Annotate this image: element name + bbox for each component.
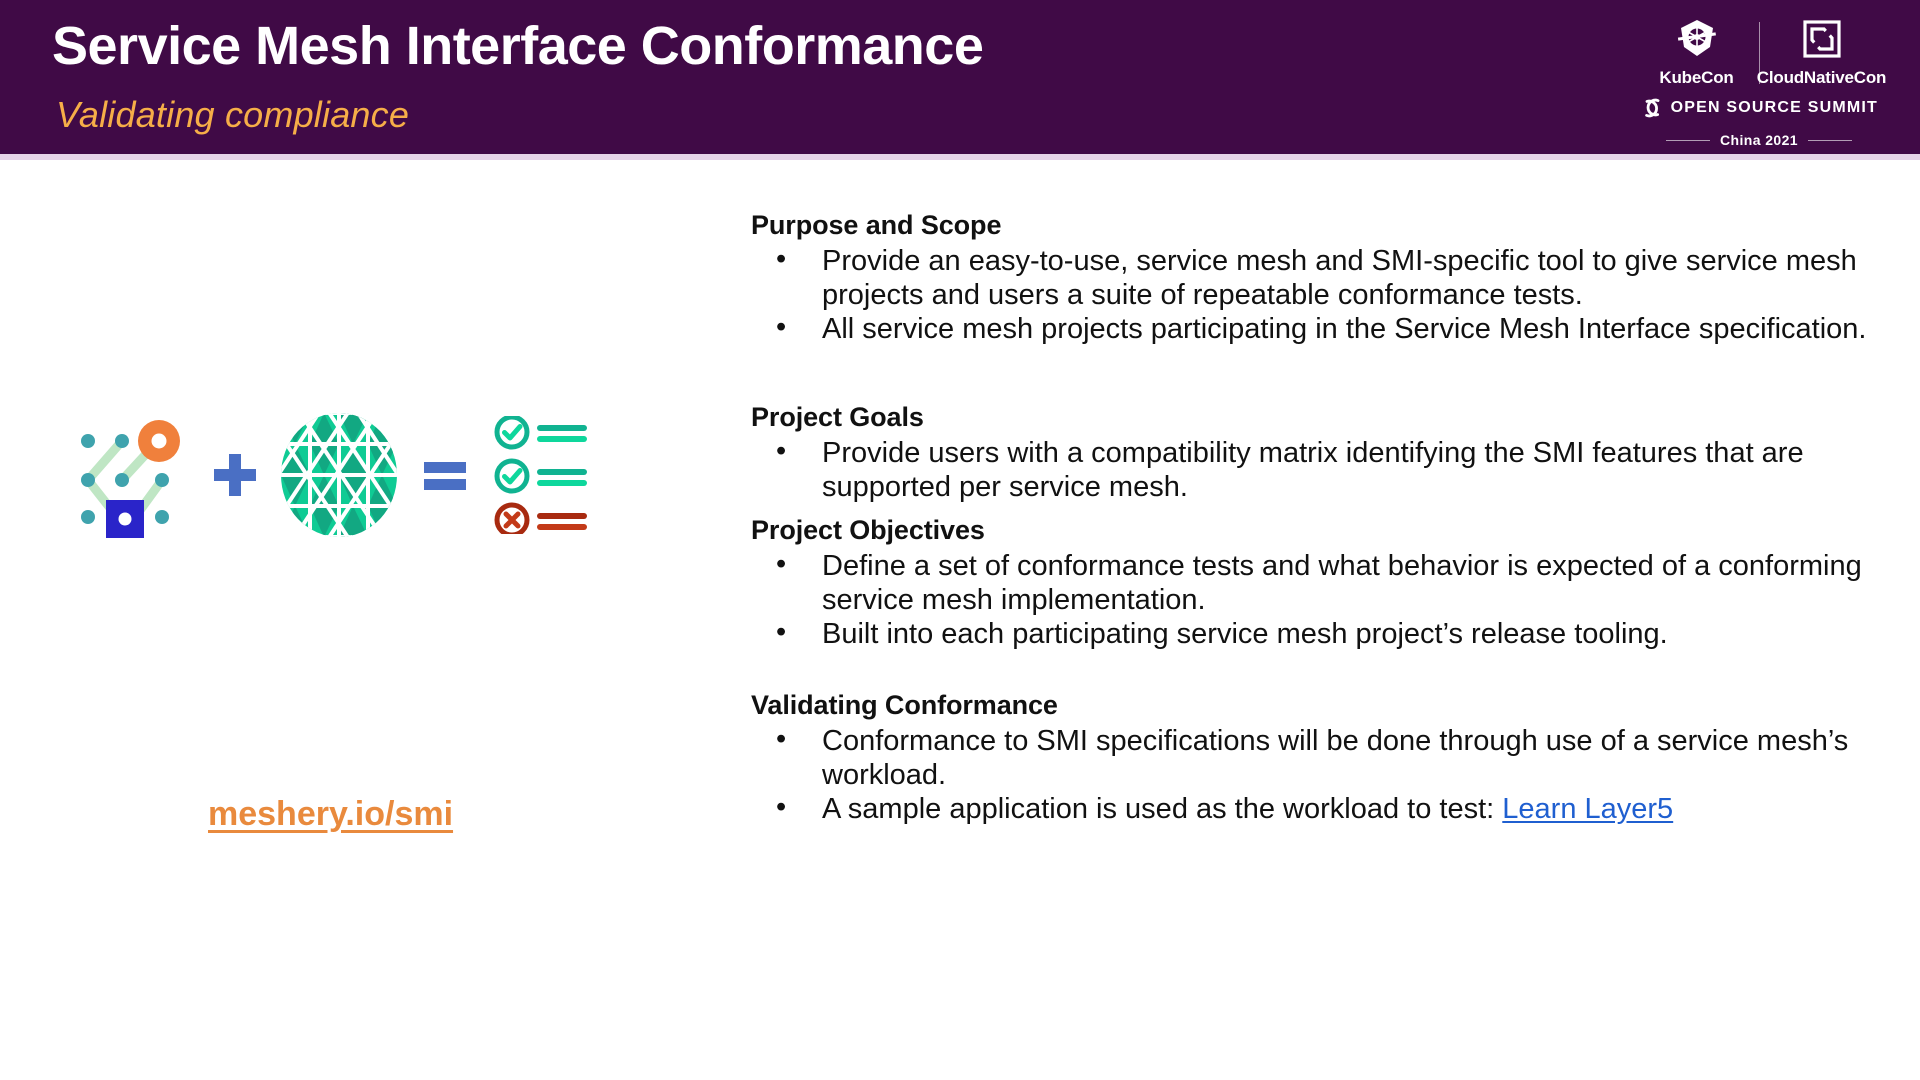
- slide-header: Service Mesh Interface Conformance Valid…: [0, 0, 1920, 160]
- plus-icon: [192, 451, 278, 499]
- event-logo: KubeCon CloudNativeCon: [1640, 8, 1878, 148]
- smi-nodes-icon: [60, 405, 192, 545]
- open-source-summit-label: OPEN SOURCE SUMMIT: [1671, 99, 1878, 117]
- kubecon-logo: KubeCon: [1641, 16, 1753, 86]
- section-heading: Project Objectives: [750, 515, 1910, 546]
- section-project-goals: Project Goals Provide users with a compa…: [750, 402, 1910, 518]
- equals-icon: [400, 455, 490, 495]
- section-heading: Purpose and Scope: [750, 210, 1910, 241]
- page-title: Service Mesh Interface Conformance: [52, 18, 983, 75]
- content-panel: Purpose and Scope Provide an easy-to-use…: [750, 160, 1920, 1080]
- list-item-text: A sample application is used as the work…: [822, 793, 1502, 825]
- list-item: Built into each participating service me…: [750, 618, 1910, 652]
- section-purpose-and-scope: Purpose and Scope Provide an easy-to-use…: [750, 210, 1910, 361]
- meshery-smi-link[interactable]: meshery.io/smi: [208, 795, 453, 834]
- bullet-list: Provide an easy-to-use, service mesh and…: [750, 245, 1910, 347]
- bullet-list: Provide users with a compatibility matri…: [750, 437, 1910, 504]
- conformance-results-icon: [490, 416, 594, 534]
- kubecon-label: KubeCon: [1659, 69, 1733, 86]
- list-item-with-link: A sample application is used as the work…: [750, 793, 1910, 827]
- logo-rule-right: [1808, 140, 1852, 141]
- conformance-diagram: [60, 405, 640, 545]
- event-year-label: China 2021: [1720, 132, 1798, 148]
- bullet-list: Conformance to SMI specifications will b…: [750, 725, 1910, 827]
- cloudnativecon-label: CloudNativeCon: [1757, 69, 1886, 86]
- cncf-square-icon: [1802, 16, 1842, 62]
- section-heading: Validating Conformance: [750, 690, 1910, 721]
- oss-row: OPEN SOURCE SUMMIT: [1640, 91, 1878, 125]
- cloudnativecon-logo: CloudNativeCon: [1766, 16, 1878, 86]
- list-item: Define a set of conformance tests and wh…: [750, 550, 1910, 617]
- list-item: Provide users with a compatibility matri…: [750, 437, 1910, 504]
- list-item: All service mesh projects participating …: [750, 313, 1910, 347]
- learn-layer5-link[interactable]: Learn Layer5: [1502, 793, 1673, 825]
- logo-year-row: China 2021: [1640, 132, 1878, 148]
- service-mesh-globe-icon: [278, 411, 400, 539]
- section-validating-conformance: Validating Conformance Conformance to SM…: [750, 690, 1910, 841]
- slide-root: Service Mesh Interface Conformance Valid…: [0, 0, 1920, 1080]
- section-heading: Project Goals: [750, 402, 1910, 433]
- oss-s-icon: [1640, 91, 1665, 125]
- left-panel: meshery.io/smi Reference: Design spec an…: [0, 160, 750, 1080]
- kubernetes-helm-icon: [1675, 16, 1719, 62]
- bullet-list: Define a set of conformance tests and wh…: [750, 550, 1910, 652]
- logo-top-row: KubeCon CloudNativeCon: [1640, 8, 1878, 86]
- list-item: Provide an easy-to-use, service mesh and…: [750, 245, 1910, 312]
- section-project-objectives: Project Objectives Define a set of confo…: [750, 515, 1910, 666]
- list-item: Conformance to SMI specifications will b…: [750, 725, 1910, 792]
- logo-rule-left: [1666, 140, 1710, 141]
- page-subtitle: Validating compliance: [56, 94, 409, 136]
